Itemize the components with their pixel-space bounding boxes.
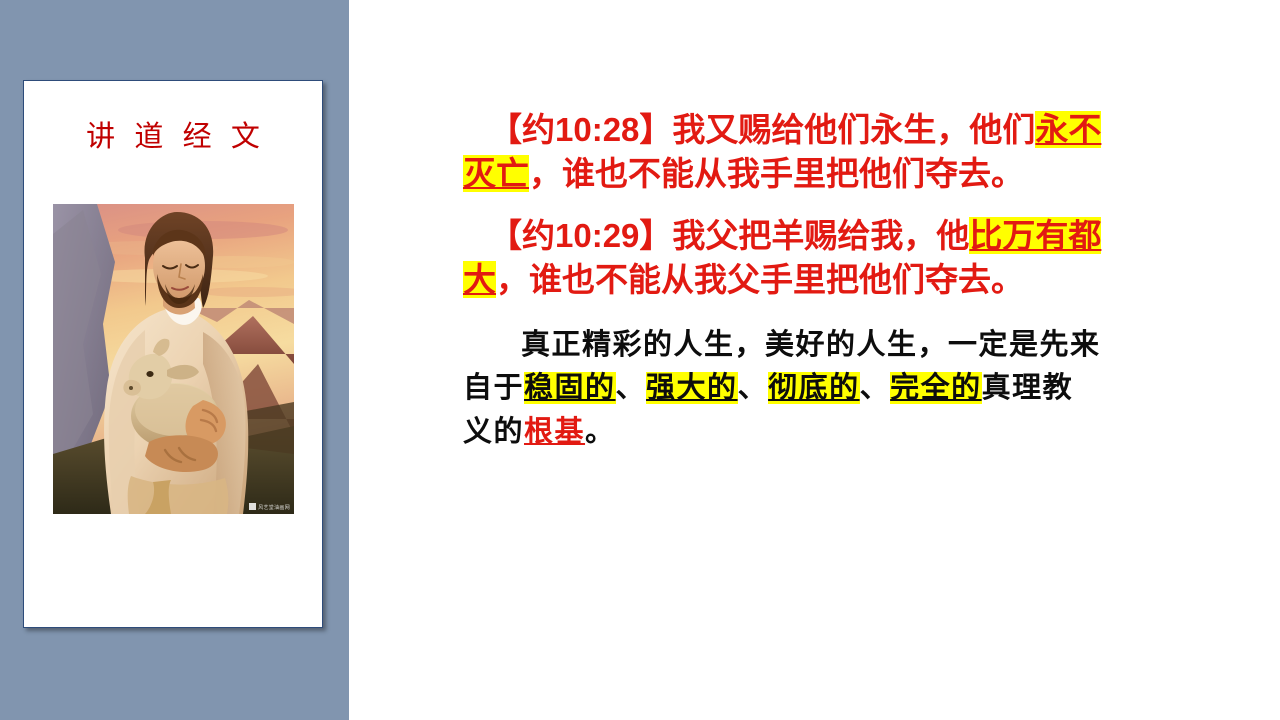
verse-segment-plain: 【约10:29】我父把羊赐给我，他: [489, 217, 969, 254]
commentary-separator-3: 、: [860, 372, 891, 404]
verse-segment-plain-2: ，谁也不能从我父手里把他们夺去。: [496, 261, 1024, 298]
verse-segment-plain: 【约10:28】我又赐给他们永生，他们: [489, 111, 1035, 148]
jesus-holding-lamb-image: 风艺堂油画网: [53, 204, 294, 514]
commentary-highlight-4: 完全的: [890, 372, 982, 404]
verse-john-10-28: 【约10:28】我又赐给他们永生，他们永不灭亡，谁也不能从我手里把他们夺去。: [463, 108, 1103, 196]
slide-body-text: 【约10:28】我又赐给他们永生，他们永不灭亡，谁也不能从我手里把他们夺去。 【…: [463, 108, 1103, 454]
verse-segment-plain-2: ，谁也不能从我手里把他们夺去。: [529, 155, 1024, 192]
painting-illustration: [53, 204, 294, 514]
commentary-keyword-foundation: 根基: [524, 416, 585, 448]
page-title: 讲 道 经 文: [24, 113, 322, 155]
watermark-text: 风艺堂油画网: [258, 505, 290, 511]
commentary-highlight-2: 强大的: [646, 372, 738, 404]
commentary-highlight-1: 稳固的: [524, 372, 616, 404]
title-card: 讲 道 经 文: [23, 80, 323, 628]
image-watermark: 风艺堂油画网: [249, 503, 290, 511]
commentary-period: 。: [585, 416, 616, 448]
watermark-logo-icon: [249, 503, 256, 510]
left-sidebar-panel: 讲 道 经 文: [0, 0, 349, 720]
verse-john-10-29: 【约10:29】我父把羊赐给我，他比万有都大，谁也不能从我父手里把他们夺去。: [463, 214, 1103, 302]
commentary-separator-1: 、: [616, 372, 647, 404]
commentary-highlight-3: 彻底的: [768, 372, 860, 404]
commentary-separator-2: 、: [738, 372, 769, 404]
commentary-paragraph: 真正精彩的人生，美好的人生，一定是先来自于稳固的、强大的、彻底的、完全的真理教义…: [463, 324, 1103, 455]
